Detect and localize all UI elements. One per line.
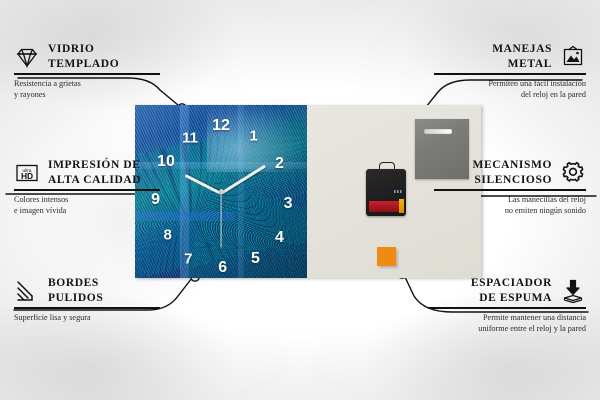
- gear-icon: [560, 160, 586, 186]
- ultra-hd-icon: ultra HD: [14, 160, 40, 186]
- callout-header: BORDES PULIDOS: [14, 276, 164, 305]
- callout-rule: [428, 307, 586, 308]
- battery: [369, 201, 403, 211]
- callout-rule: [14, 189, 160, 190]
- clock-numeral-3: 3: [284, 196, 293, 212]
- picture-hanger-icon: [560, 44, 586, 70]
- clock-numeral-8: 8: [164, 227, 172, 242]
- callout-header: MECANISMO SILENCIOSO: [430, 158, 586, 187]
- callout-title: VIDRIO TEMPLADO: [48, 42, 119, 71]
- callout-title: MECANISMO SILENCIOSO: [472, 158, 552, 187]
- callout-description: Superficie lisa y segura: [14, 312, 164, 323]
- polished-edges-icon: [14, 278, 40, 304]
- callout-rule: [14, 73, 160, 74]
- diamond-icon: [14, 44, 40, 70]
- foam-spacer: [377, 247, 396, 266]
- callout-header: ultra HD IMPRESIÓN DE ALTA CALIDAD: [14, 158, 164, 187]
- callout-title: ESPACIADOR DE ESPUMA: [471, 276, 552, 305]
- callout-description: Resistencia a grietas y rayones: [14, 78, 164, 100]
- callout-mecanismo-silencioso: MECANISMO SILENCIOSO Las manecillas del …: [430, 158, 586, 216]
- callout-vidrio-templado: VIDRIO TEMPLADO Resistencia a grietas y …: [14, 42, 164, 100]
- callout-rule: [434, 73, 586, 74]
- callout-description: Permite mantener una distancia uniforme …: [424, 312, 586, 334]
- clock-numeral-4: 4: [275, 230, 284, 246]
- callout-header: MANEJAS METAL: [430, 42, 586, 71]
- clock-numeral-7: 7: [184, 251, 192, 266]
- callout-rule: [434, 189, 586, 190]
- clock-center-hub: [219, 189, 224, 194]
- callout-description: Permiten una fácil instalación del reloj…: [430, 78, 586, 100]
- svg-text:HD: HD: [21, 171, 33, 181]
- mechanism-label: [394, 190, 403, 193]
- callout-title: IMPRESIÓN DE ALTA CALIDAD: [48, 158, 141, 187]
- callout-bordes-pulidos: BORDES PULIDOS Superficie lisa y segura: [14, 276, 164, 323]
- callout-description: Colores intensos e imagen vívida: [14, 194, 164, 216]
- callout-manejas-metal: MANEJAS METAL Permiten una fácil instala…: [430, 42, 586, 100]
- callout-impresion-alta-calidad: ultra HD IMPRESIÓN DE ALTA CALIDAD Color…: [14, 158, 164, 216]
- clock-numeral-1: 1: [250, 129, 258, 144]
- foam-spacer-icon: [560, 278, 586, 304]
- clock-numeral-5: 5: [251, 251, 260, 267]
- infographic-canvas: 12 1 2 3 4 5 6 7 8 9 10 11: [0, 0, 600, 400]
- clock-numeral-6: 6: [218, 260, 227, 276]
- callout-title: MANEJAS METAL: [492, 42, 552, 71]
- callout-description: Las manecillas del reloj no emiten ningú…: [430, 194, 586, 216]
- clock-second-hand: [221, 192, 222, 247]
- clock-numeral-11: 11: [182, 130, 198, 145]
- clock-mechanism-box: [366, 169, 406, 216]
- clock-numeral-2: 2: [275, 156, 284, 172]
- callout-espaciador-espuma: ESPACIADOR DE ESPUMA Permite mantener un…: [424, 276, 586, 334]
- callout-header: VIDRIO TEMPLADO: [14, 42, 164, 71]
- callout-title: BORDES PULIDOS: [48, 276, 103, 305]
- clock-numeral-12: 12: [212, 118, 230, 134]
- callout-rule: [14, 307, 160, 308]
- callout-header: ESPACIADOR DE ESPUMA: [424, 276, 586, 305]
- mechanism-hanger-loop: [379, 162, 395, 170]
